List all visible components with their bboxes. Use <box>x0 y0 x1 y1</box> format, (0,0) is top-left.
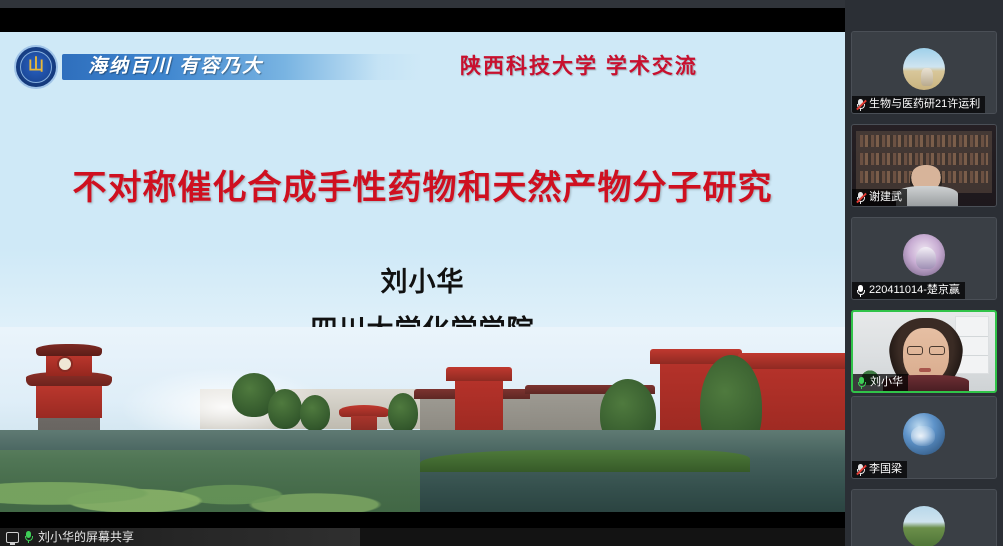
slide-motto: 海纳百川 有容乃大 <box>88 53 388 81</box>
photo-lotus-pond <box>0 450 420 512</box>
slide-speaker-name: 刘小华 <box>0 260 845 299</box>
tile-2-namebar: 220411014-楚京赢 <box>852 282 965 299</box>
participant-tile-0[interactable]: 生物与医药研21许运利 <box>851 31 997 114</box>
presentation-slide: 山 海纳百川 有容乃大 陕西科技大学 学术交流 不对称催化合成手性药物和天然产物… <box>0 32 845 512</box>
anime-photo-avatar <box>903 234 945 276</box>
share-status-pill[interactable]: 刘小华的屏幕共享 <box>0 528 360 546</box>
photo-lawn <box>420 450 750 472</box>
participant-tile-2[interactable]: 220411014-楚京赢 <box>851 217 997 300</box>
photo-tree-2 <box>268 389 302 429</box>
participant-name: 李国梁 <box>869 461 902 478</box>
participant-filmstrip[interactable]: 生物与医药研21许运利 谢建武 <box>845 0 1003 546</box>
slide-banner: 山 海纳百川 有容乃大 陕西科技大学 学术交流 <box>0 40 845 90</box>
mic-muted-icon <box>856 464 865 476</box>
photo-tree-3 <box>300 395 330 431</box>
participant-name: 生物与医药研21许运利 <box>869 96 980 113</box>
shared-screen-area[interactable]: 山 海纳百川 有容乃大 陕西科技大学 学术交流 不对称催化合成手性药物和天然产物… <box>0 32 845 513</box>
beach-photo-avatar <box>903 48 945 90</box>
participant-name: 刘小华 <box>870 374 903 391</box>
university-seal-icon: 山 <box>14 45 58 89</box>
tower-clock <box>57 356 73 372</box>
tower-upper-roof <box>36 344 102 356</box>
participant-tile-5[interactable] <box>851 489 997 546</box>
participant-name: 220411014-楚京赢 <box>869 282 960 299</box>
participant-tile-1[interactable]: 谢建武 <box>851 124 997 207</box>
tile-1-namebar: 谢建武 <box>852 189 907 206</box>
tile-3-namebar: 刘小华 <box>853 374 908 391</box>
window-top-chrome <box>0 0 845 8</box>
participant-3-face <box>903 328 949 382</box>
tile-4-namebar: 李国梁 <box>852 461 907 478</box>
seal-glyph-icon: 山 <box>28 57 44 73</box>
mic-on-icon <box>24 531 33 543</box>
mic-muted-icon <box>856 192 865 204</box>
landscape-photo-avatar <box>903 506 945 546</box>
mic-on-icon <box>857 377 866 389</box>
participant-tile-3-active-speaker[interactable]: 刘小华 <box>851 310 997 393</box>
share-top-letterbox <box>0 8 845 32</box>
earth-photo-avatar <box>903 413 945 455</box>
mic-muted-icon <box>856 99 865 111</box>
participant-tile-4[interactable]: 李国梁 <box>851 396 997 479</box>
slide-event-title: 陕西科技大学 学术交流 <box>460 52 790 82</box>
share-status-text: 刘小华的屏幕共享 <box>38 528 134 546</box>
slide-main-title: 不对称催化合成手性药物和天然产物分子研究 <box>0 160 845 209</box>
participant-3-glasses-right <box>929 346 945 355</box>
monitor-icon <box>6 532 19 543</box>
campus-photo <box>0 327 845 512</box>
meeting-window: 山 海纳百川 有容乃大 陕西科技大学 学术交流 不对称催化合成手性药物和天然产物… <box>0 0 1003 546</box>
photo-roof-red-c <box>738 353 845 369</box>
mic-on-icon <box>856 285 865 297</box>
tile-0-namebar: 生物与医药研21许运利 <box>852 96 985 113</box>
photo-roof-red-a <box>446 367 512 381</box>
photo-tree-4 <box>388 393 418 433</box>
participant-3-glasses-left <box>907 346 923 355</box>
participant-3-mouth <box>919 368 931 372</box>
participant-name: 谢建武 <box>869 189 902 206</box>
